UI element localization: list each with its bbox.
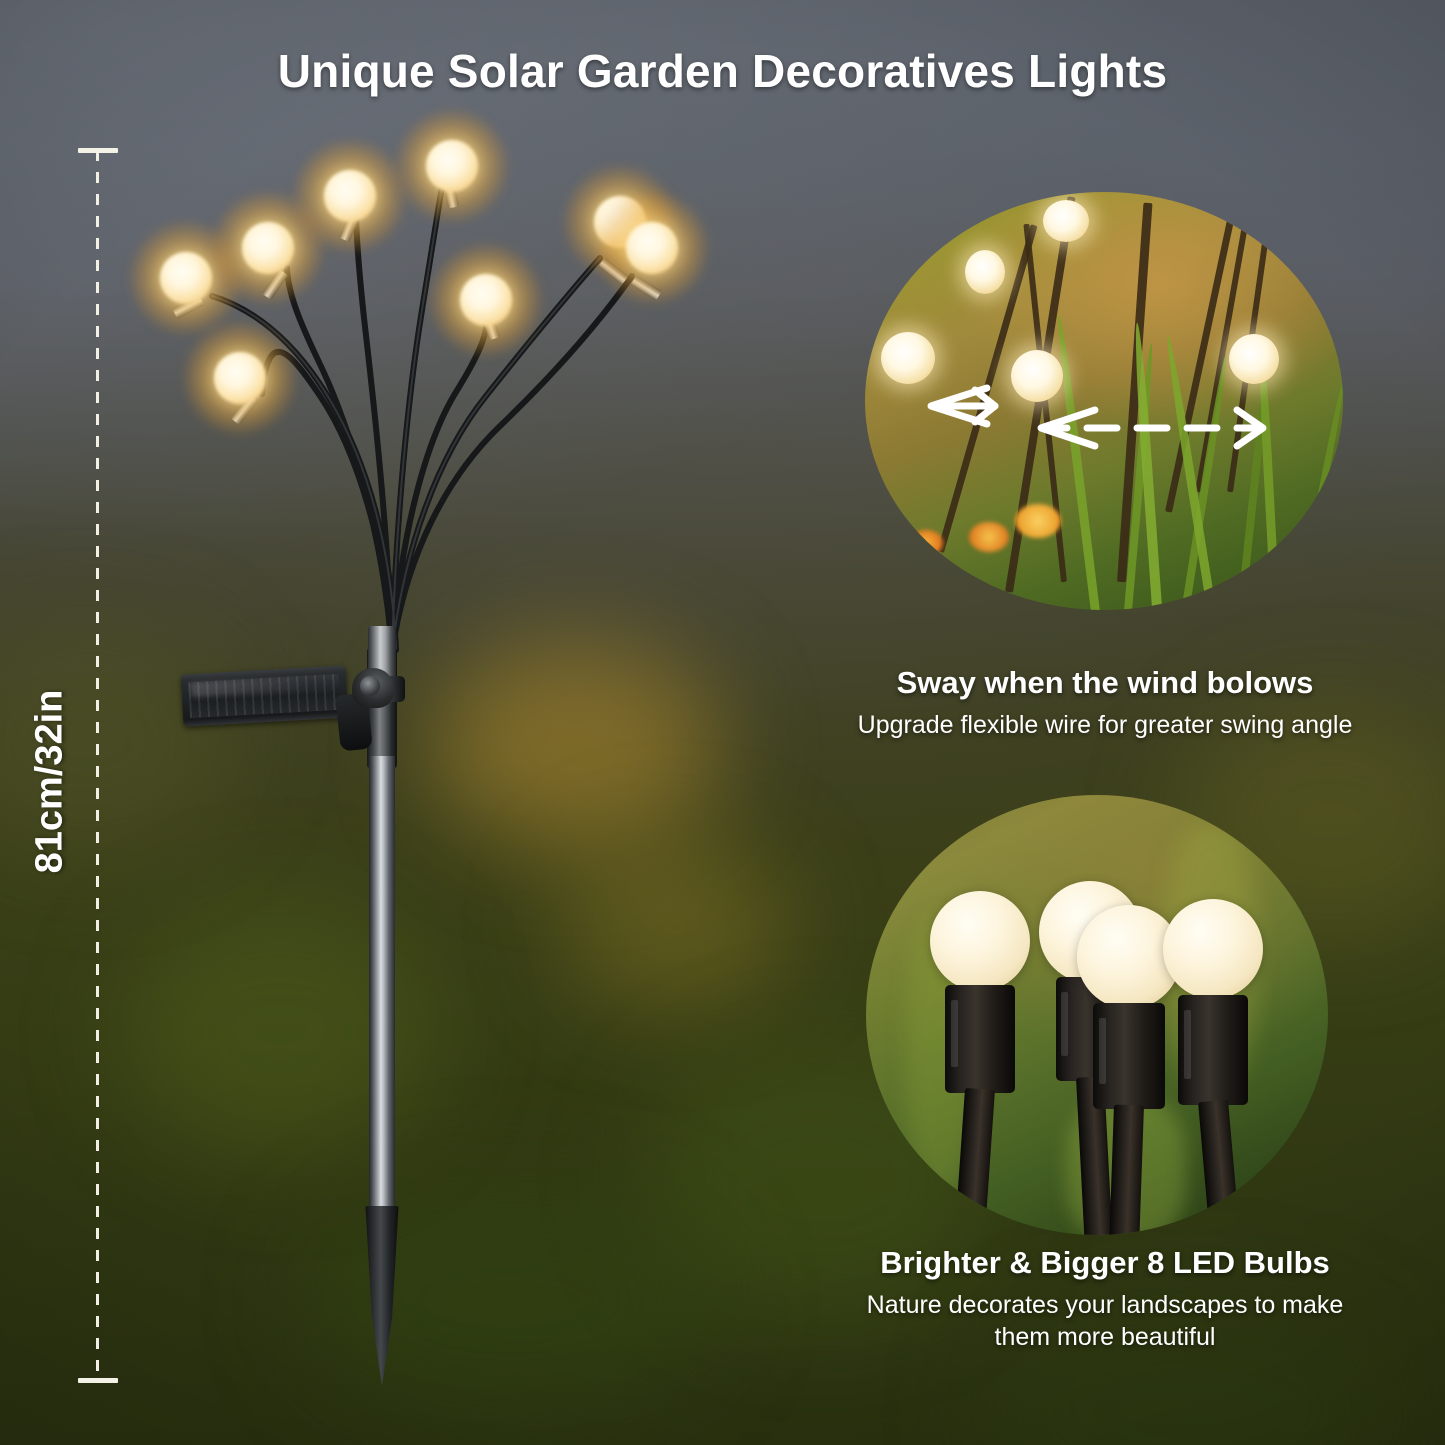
bulb-core (214, 352, 266, 404)
feature-heading: Brighter & Bigger 8 LED Bulbs (790, 1245, 1420, 1281)
led-bulb (153, 245, 219, 311)
product-infographic: Unique Solar Garden Decoratives Lights 8… (0, 0, 1445, 1445)
bulb-cap (945, 985, 1015, 1093)
bulb-globe (930, 891, 1030, 991)
bulb-core (626, 222, 678, 274)
feature-description: Upgrade flexible wire for greater swing … (795, 709, 1415, 741)
bulb-stem (1198, 1100, 1241, 1235)
feature-description-line1: Nature decorates your landscapes to make (867, 1291, 1344, 1319)
led-bulb-closeup-photo (866, 795, 1328, 1235)
bulb-core (460, 274, 512, 326)
feature-caption-sway: Sway when the wind bolows Upgrade flexib… (795, 665, 1415, 741)
stainless-pole (369, 756, 395, 1216)
led-bulb (1158, 899, 1268, 1235)
bulb-core (426, 140, 478, 192)
bulb-globe (1163, 899, 1263, 999)
led-bulb (419, 133, 485, 199)
led-bulb (235, 215, 301, 281)
led-bulb (453, 267, 519, 333)
sway-scene (865, 192, 1343, 610)
bulb-core (324, 170, 376, 222)
solar-panel (181, 665, 349, 726)
garden-sway-photo (865, 192, 1343, 610)
bulb-cap (1093, 1003, 1165, 1109)
bulb-core (160, 252, 212, 304)
led-bulb (926, 891, 1034, 1221)
bulb-stem (955, 1088, 995, 1235)
led-bulb (317, 163, 383, 229)
bulb-stem (1108, 1104, 1143, 1235)
product-image (0, 0, 780, 1445)
double-arrow-overlay (865, 192, 1343, 610)
bulb-cap (1178, 995, 1248, 1105)
led-bulb (619, 215, 685, 281)
hinge-pin-icon (360, 676, 380, 696)
bulb-core (242, 222, 294, 274)
feature-caption-bulbs: Brighter & Bigger 8 LED Bulbs Nature dec… (790, 1245, 1420, 1353)
feature-description-line2: them more beautiful (995, 1323, 1216, 1351)
bulb-closeup-scene (866, 795, 1328, 1235)
led-bulb (207, 345, 273, 411)
feature-description: Nature decorates your landscapes to make… (790, 1289, 1420, 1353)
feature-heading: Sway when the wind bolows (795, 665, 1415, 701)
